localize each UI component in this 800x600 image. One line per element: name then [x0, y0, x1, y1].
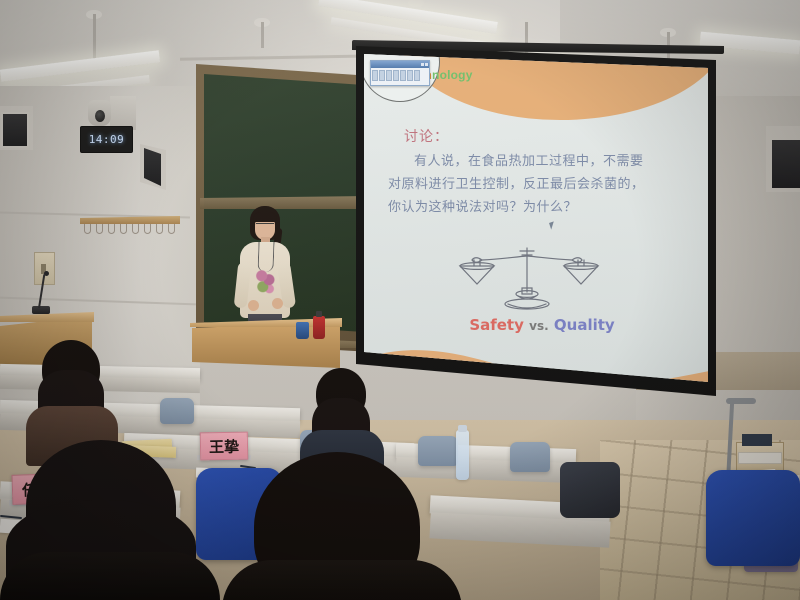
balance-scale-icon	[442, 244, 612, 316]
microphone-head-icon	[44, 271, 49, 276]
chair-back-rail	[726, 398, 756, 404]
slide-title: 讨论：	[404, 126, 449, 146]
wall-speaker-right-icon	[772, 140, 800, 188]
instructor-held-object	[254, 268, 276, 294]
coat-hook-icon[interactable]	[84, 224, 91, 234]
toolbar-undo-icon[interactable]	[400, 70, 406, 81]
toolbar-button-row[interactable]	[371, 68, 429, 83]
slide-footer-text: Safety vs. Quality	[412, 316, 672, 334]
toolbar-close-icon[interactable]	[425, 63, 428, 66]
toolbar-minimize-icon[interactable]	[421, 63, 424, 66]
projector-screen: FoodTechnology 讨论： 有	[364, 54, 708, 384]
toolbar-title-bar[interactable]	[371, 61, 429, 68]
name-card: 王挚	[200, 432, 248, 461]
water-bottle-cap[interactable]	[458, 425, 467, 432]
instructor-right-hand	[272, 298, 283, 309]
camera-lens-icon	[95, 110, 105, 122]
coat-hook-icon[interactable]	[168, 224, 175, 234]
wall-clock: 14:09	[80, 126, 133, 153]
blue-backpack[interactable]	[706, 470, 800, 566]
light-rod	[93, 14, 96, 60]
red-thermos[interactable]	[313, 316, 325, 339]
coat-hook-icon[interactable]	[108, 224, 115, 234]
toolbar-button-icon[interactable]	[386, 70, 392, 81]
ceiling-camera-icon	[88, 100, 111, 126]
coat-hook-icon[interactable]	[144, 224, 151, 234]
water-bottle[interactable]	[456, 430, 469, 480]
student-front-center-body	[222, 560, 462, 600]
carton-label-band	[738, 452, 782, 464]
red-thermos-cap[interactable]	[316, 311, 322, 317]
slide-body-line-3: 你认为这种说法对吗？为什么？	[388, 196, 688, 219]
classroom-photo: 14:09 FoodTechnology	[0, 0, 800, 600]
coat-hook-icon[interactable]	[96, 224, 103, 234]
toolbar-button-icon[interactable]	[414, 70, 420, 81]
light-rod	[261, 22, 264, 48]
chair[interactable]	[510, 442, 550, 472]
slide-logo-part3: nology	[432, 68, 473, 82]
slide-footer-safety: Safety	[469, 316, 524, 334]
mouse-cursor-icon	[549, 221, 556, 229]
coat-hook-icon[interactable]	[120, 224, 127, 234]
coat-hook-icon[interactable]	[132, 224, 139, 234]
toolbar-button-icon[interactable]	[372, 70, 378, 81]
wall-utility-panel[interactable]	[34, 252, 55, 285]
microphone-base	[32, 306, 50, 314]
chair[interactable]	[160, 398, 194, 424]
wall-speaker-left-icon	[1, 112, 29, 148]
carton-contents	[742, 434, 772, 446]
instructor-fringe	[253, 212, 277, 222]
slide-footer-vs: vs.	[529, 319, 549, 333]
student-front-left-body	[0, 552, 220, 600]
chair[interactable]	[418, 436, 458, 466]
floating-drawing-toolbar[interactable]	[370, 60, 430, 86]
toolbar-button-icon[interactable]	[379, 70, 385, 81]
toolbar-button-icon[interactable]	[393, 70, 399, 81]
slide-body-text: 有人说，在食品热加工过程中，不需要 对原料进行卫生控制，反正最后会杀菌的， 你认…	[388, 150, 688, 219]
slide-body-line-2: 对原料进行卫生控制，反正最后会杀菌的，	[388, 173, 688, 196]
dark-bag[interactable]	[560, 462, 620, 518]
clock-time: 14:09	[89, 133, 125, 146]
camera-mount-plate	[110, 96, 136, 130]
instructor-glasses-icon	[256, 223, 274, 228]
instructor-left-hand	[248, 300, 259, 311]
slide-body-line-1: 有人说，在食品热加工过程中，不需要	[388, 150, 688, 173]
presentation-slide: FoodTechnology 讨论： 有	[364, 54, 708, 384]
coat-hook-icon[interactable]	[156, 224, 163, 234]
toolbar-button-icon[interactable]	[407, 70, 413, 81]
blue-cup[interactable]	[296, 322, 309, 339]
instructor	[230, 206, 300, 330]
slide-footer-quality: Quality	[554, 316, 615, 334]
light-mount-icon	[408, 0, 424, 7]
